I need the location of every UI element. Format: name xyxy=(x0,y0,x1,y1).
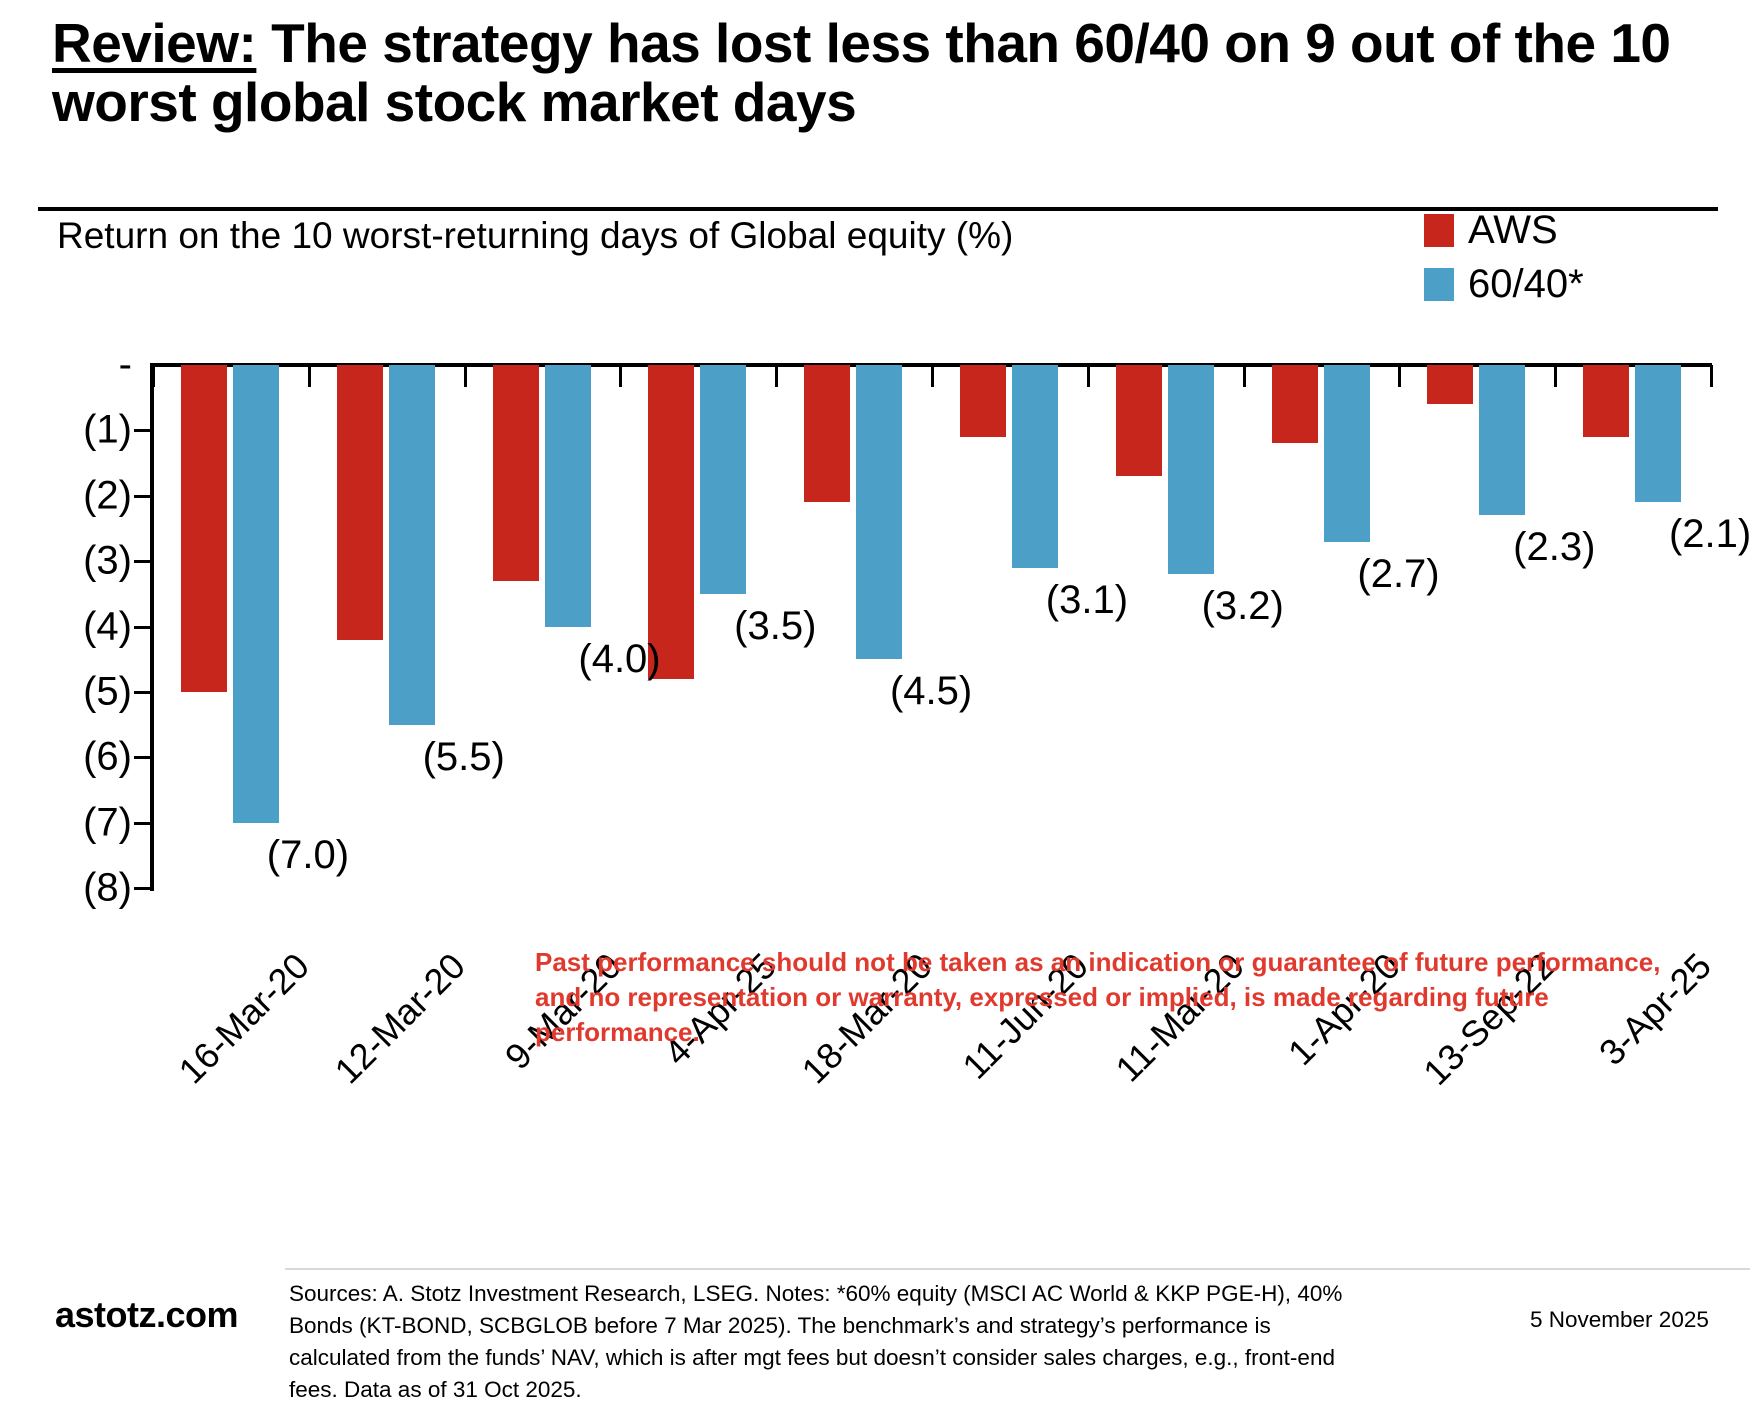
y-axis-tick xyxy=(134,822,154,825)
bar-value-label: (3.1) xyxy=(1046,578,1128,623)
bar-6040[interactable] xyxy=(1635,365,1681,502)
y-axis-tick xyxy=(134,887,154,890)
bar-value-label: (4.0) xyxy=(578,637,660,682)
y-axis-tick-label: (2) xyxy=(0,473,132,518)
x-axis-date-label: 16-Mar-20 xyxy=(170,945,317,1092)
bar-value-label: (3.2) xyxy=(1202,584,1284,629)
x-axis-tick xyxy=(775,365,778,387)
x-axis-tick xyxy=(152,365,155,387)
bar-aws[interactable] xyxy=(1583,365,1629,437)
bar-aws[interactable] xyxy=(960,365,1006,437)
publication-date: 5 November 2025 xyxy=(1530,1307,1709,1333)
y-axis-tick-label: (6) xyxy=(0,735,132,780)
y-axis-tick-label: (7) xyxy=(0,800,132,845)
brand-logo[interactable]: astotz.com xyxy=(55,1294,238,1336)
x-axis-tick xyxy=(1554,365,1557,387)
y-axis-tick-label: (8) xyxy=(0,866,132,911)
bar-aws[interactable] xyxy=(1116,365,1162,476)
y-axis-tick-label: (5) xyxy=(0,670,132,715)
bar-value-label: (2.1) xyxy=(1669,512,1751,557)
bar-value-label: (2.3) xyxy=(1513,525,1595,570)
x-axis-tick xyxy=(619,365,622,387)
bar-value-label: (5.5) xyxy=(423,735,505,780)
x-axis-tick xyxy=(931,365,934,387)
bar-value-label: (2.7) xyxy=(1357,552,1439,597)
bar-aws[interactable] xyxy=(1272,365,1318,443)
bar-6040[interactable] xyxy=(1012,365,1058,568)
x-axis-tick xyxy=(464,365,467,387)
bar-value-label: (3.5) xyxy=(734,604,816,649)
bar-6040[interactable] xyxy=(233,365,279,823)
x-axis-tick xyxy=(1243,365,1246,387)
y-axis-tick-label: - xyxy=(0,343,132,388)
bar-6040[interactable] xyxy=(856,365,902,659)
y-axis-tick xyxy=(134,756,154,759)
y-axis-tick xyxy=(134,560,154,563)
bar-6040[interactable] xyxy=(1168,365,1214,574)
bar-value-label: (7.0) xyxy=(267,833,349,878)
bar-aws[interactable] xyxy=(337,365,383,640)
bar-value-label: (4.5) xyxy=(890,669,972,714)
y-axis-tick xyxy=(134,691,154,694)
y-axis-tick-label: (3) xyxy=(0,539,132,584)
bar-aws[interactable] xyxy=(181,365,227,692)
bar-aws[interactable] xyxy=(648,365,694,679)
x-axis-tick xyxy=(308,365,311,387)
bar-6040[interactable] xyxy=(389,365,435,725)
past-performance-disclaimer: Past performance should not be taken as … xyxy=(535,945,1705,1050)
y-axis-tick xyxy=(134,495,154,498)
bar-6040[interactable] xyxy=(700,365,746,594)
bar-aws[interactable] xyxy=(1427,365,1473,404)
bar-6040[interactable] xyxy=(545,365,591,627)
footer-divider xyxy=(285,1268,1750,1270)
bar-6040[interactable] xyxy=(1324,365,1370,542)
sources-note: Sources: A. Stotz Investment Research, L… xyxy=(289,1278,1349,1406)
x-axis-tick xyxy=(1087,365,1090,387)
y-axis-tick-label: (1) xyxy=(0,408,132,453)
x-axis-tick xyxy=(1710,365,1713,387)
bar-aws[interactable] xyxy=(493,365,539,581)
bar-6040[interactable] xyxy=(1479,365,1525,515)
bar-chart: -(1)(2)(3)(4)(5)(6)(7)(8) (7.0)(5.5)(4.0… xyxy=(0,0,1752,1374)
y-axis-tick-label: (4) xyxy=(0,604,132,649)
y-axis-tick xyxy=(134,429,154,432)
x-axis-tick xyxy=(1398,365,1401,387)
y-axis-tick xyxy=(134,626,154,629)
bar-aws[interactable] xyxy=(804,365,850,502)
x-axis-date-label: 12-Mar-20 xyxy=(326,945,473,1092)
